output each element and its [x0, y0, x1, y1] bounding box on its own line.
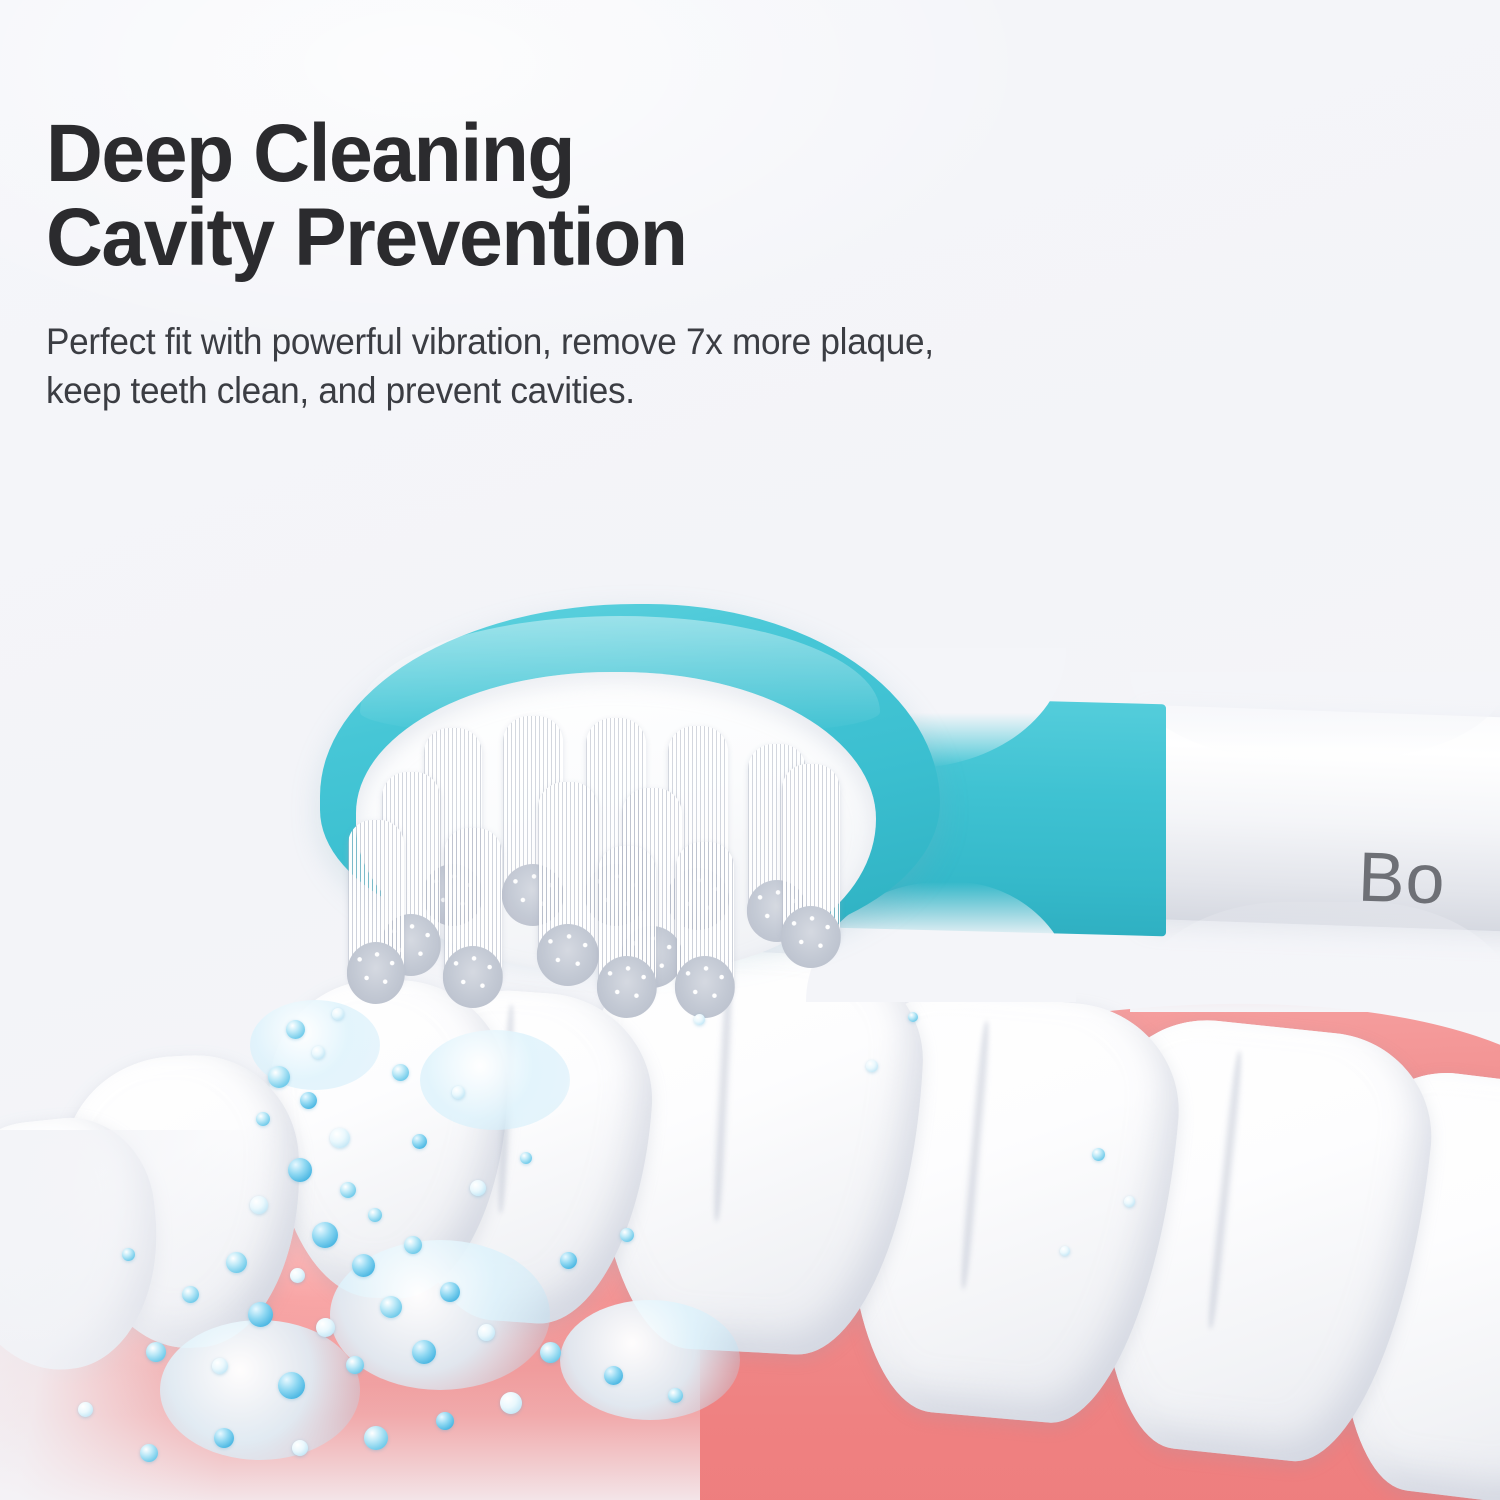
brand-label: Bo	[1357, 836, 1447, 919]
product-feature-banner: Bo	[0, 0, 1500, 1500]
page-title: Deep Cleaning Cavity Prevention	[46, 112, 1198, 279]
page-subtitle: Perfect fit with powerful vibration, rem…	[46, 279, 1186, 415]
bristle-tuft	[782, 764, 840, 960]
banner-text-block: Deep Cleaning Cavity Prevention Perfect …	[46, 112, 1246, 416]
bristle-tuft	[598, 846, 656, 1010]
bristle-tuft	[444, 828, 502, 1000]
bristle-tuft	[538, 782, 598, 978]
bristle-tuft	[676, 842, 734, 1010]
bristle-tuft	[348, 820, 404, 996]
